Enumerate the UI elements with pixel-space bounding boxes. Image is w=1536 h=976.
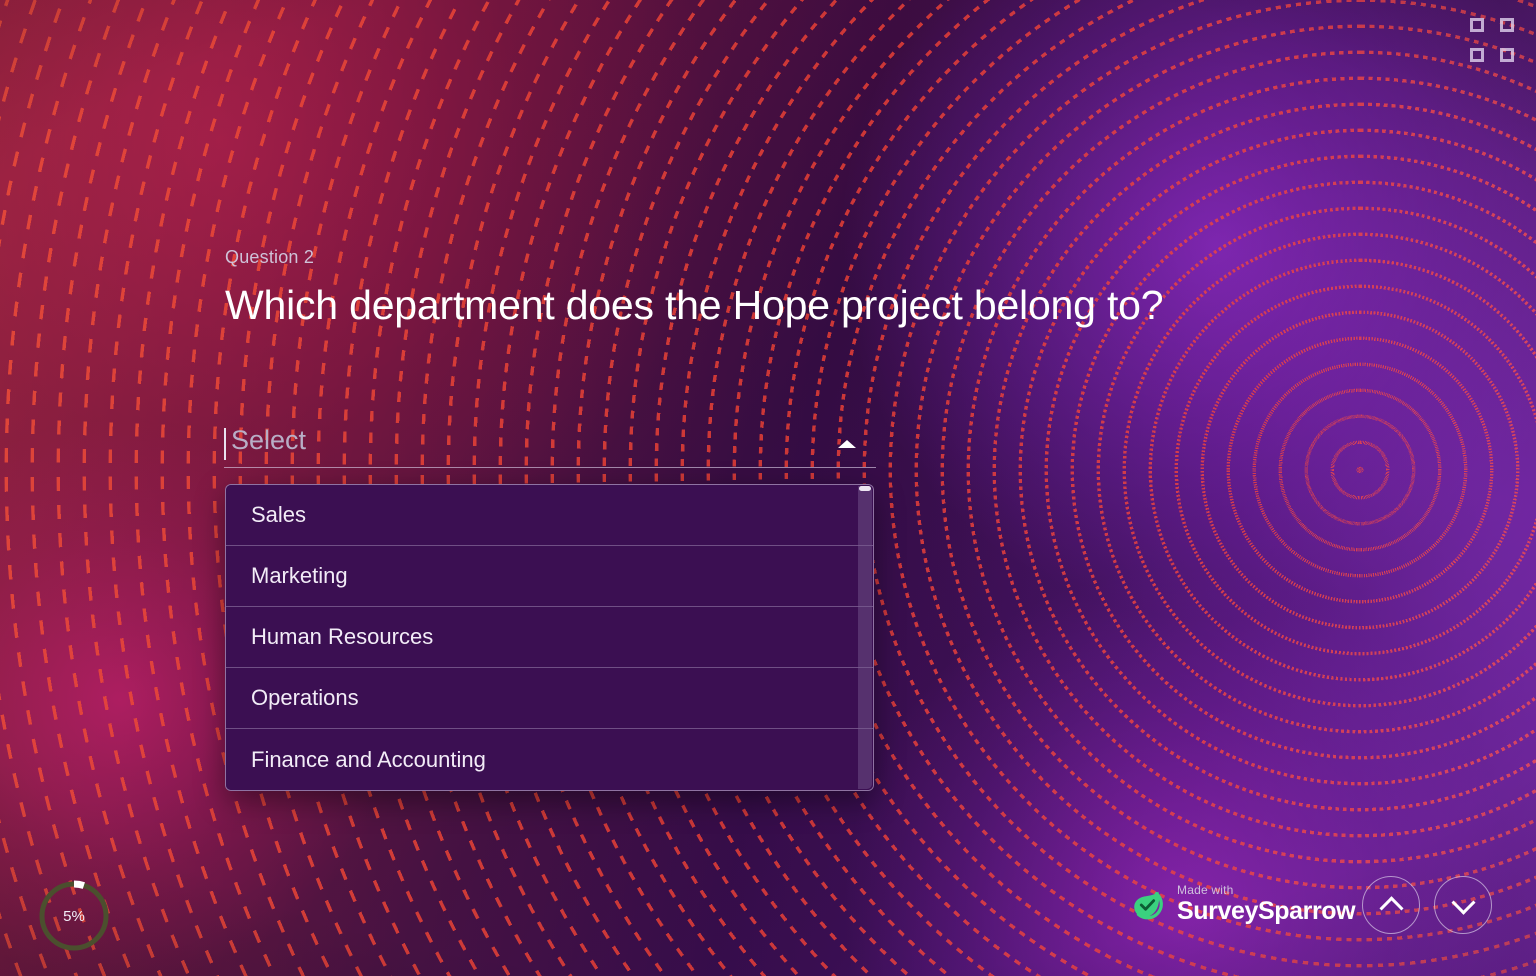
chevron-up-icon (1379, 896, 1403, 920)
question-title: Which department does the Hope project b… (225, 282, 1275, 330)
made-with-label: Made with (1177, 884, 1355, 896)
dropdown-option-sales[interactable]: Sales (226, 485, 873, 546)
text-cursor (224, 428, 226, 460)
sparrow-leaf-check-icon (1128, 885, 1166, 923)
made-with-surveysparrow-brand[interactable]: Made with SurveySparrow (1128, 884, 1355, 924)
fullscreen-corner-bottom-right (1500, 48, 1514, 62)
dropdown-option-operations[interactable]: Operations (226, 668, 873, 729)
caret-up-icon[interactable] (838, 440, 856, 448)
dropdown-option-human-resources[interactable]: Human Resources (226, 607, 873, 668)
brand-text-block: Made with SurveySparrow (1177, 884, 1355, 924)
fullscreen-corner-top-left (1470, 18, 1484, 32)
chevron-down-icon (1451, 890, 1475, 914)
select-placeholder-text: Select (231, 425, 306, 456)
fullscreen-icon[interactable] (1470, 18, 1514, 62)
dropdown-scrollbar-thumb[interactable] (859, 486, 871, 491)
next-question-button[interactable] (1434, 876, 1492, 934)
brand-name-label: SurveySparrow (1177, 899, 1355, 924)
dropdown-option-marketing[interactable]: Marketing (226, 546, 873, 607)
progress-ring: 5% (36, 878, 112, 954)
dropdown-option-list: Sales Marketing Human Resources Operatio… (226, 485, 873, 790)
survey-page: Question 2 Which department does the Hop… (0, 0, 1536, 976)
department-select-input[interactable]: Select (224, 424, 876, 468)
fullscreen-corner-bottom-left (1470, 48, 1484, 62)
fullscreen-corner-top-right (1500, 18, 1514, 32)
question-block: Question 2 Which department does the Hop… (225, 247, 1275, 330)
dropdown-option-finance-and-accounting[interactable]: Finance and Accounting (226, 729, 873, 790)
dropdown-scrollbar[interactable] (858, 486, 872, 789)
navigation-buttons (1362, 876, 1492, 934)
question-number-label: Question 2 (225, 247, 1275, 268)
progress-percent-label: 5% (36, 878, 112, 954)
department-dropdown-panel[interactable]: Sales Marketing Human Resources Operatio… (225, 484, 874, 791)
previous-question-button[interactable] (1362, 876, 1420, 934)
